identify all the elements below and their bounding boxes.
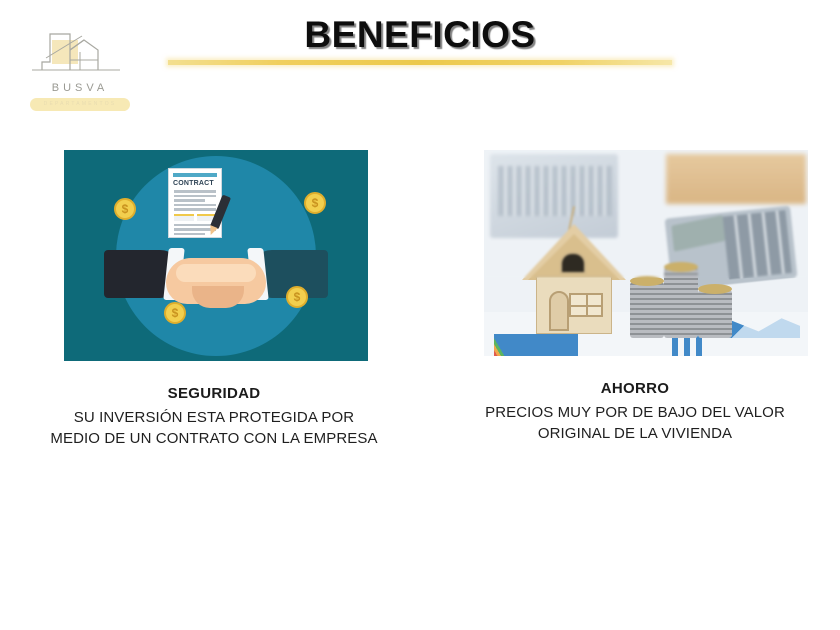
handshake-contract-illustration: CONTRACT $ $ $ $ — [64, 150, 368, 361]
logo-wordmark: BUSVA — [24, 82, 136, 94]
dollar-coin-icon: $ — [114, 198, 136, 220]
benefit-caption: AHORRO PRECIOS MUY POR DE BAJO DEL VALOR… — [460, 380, 810, 445]
benefit-heading: SEGURIDAD — [44, 385, 384, 402]
page-title: BENEFICIOS — [0, 14, 840, 56]
benefit-caption: SEGURIDAD SU INVERSIÓN ESTA PROTEGIDA PO… — [44, 385, 384, 450]
benefit-description: SU INVERSIÓN ESTA PROTEGIDA POR MEDIO DE… — [44, 407, 384, 450]
logo-tagline: DEPARTAMENTOS — [30, 98, 130, 111]
benefit-heading: AHORRO — [460, 380, 810, 397]
handshake-graphic — [104, 242, 328, 326]
dollar-coin-icon: $ — [164, 302, 186, 324]
coin-stack — [630, 282, 664, 338]
house-model-savings-photo — [484, 150, 808, 356]
dollar-coin-icon: $ — [286, 286, 308, 308]
contract-document-label: CONTRACT — [173, 180, 217, 187]
photo-depth-blur — [484, 150, 808, 278]
benefit-description: PRECIOS MUY POR DE BAJO DEL VALOR ORIGIN… — [460, 402, 810, 445]
coin-stack — [698, 290, 732, 338]
benefit-card-ahorro: AHORRO PRECIOS MUY POR DE BAJO DEL VALOR… — [460, 150, 810, 445]
title-underline-rule — [168, 60, 672, 65]
dollar-coin-icon: $ — [304, 192, 326, 214]
benefit-card-seguridad: CONTRACT $ $ $ $ SEGURIDAD SU INVERSIÓN … — [44, 150, 384, 450]
coin-stack — [664, 268, 698, 338]
